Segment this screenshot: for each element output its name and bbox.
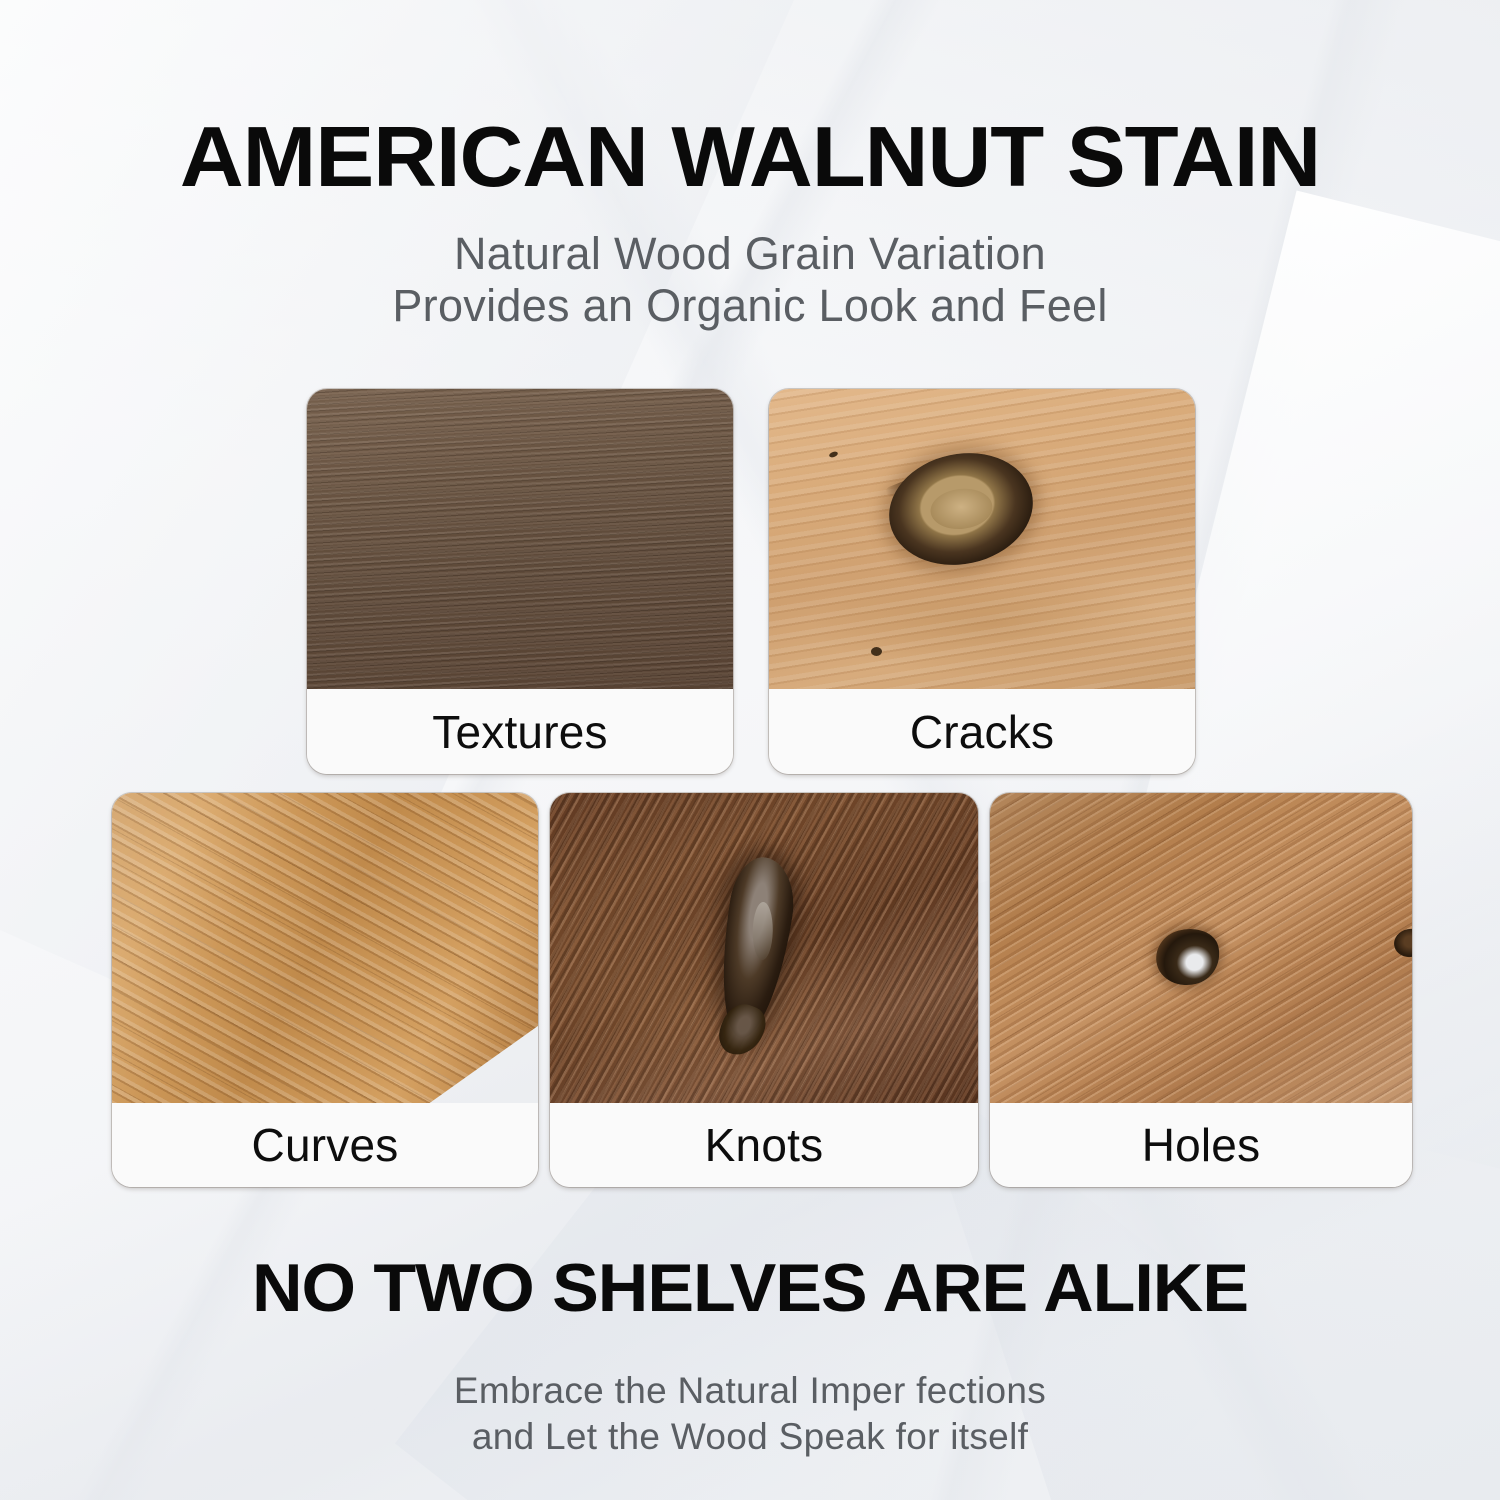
footer-subtitle-line-2: and Let the Wood Speak for itself xyxy=(0,1414,1500,1460)
card-label-textures: Textures xyxy=(432,705,607,759)
card-label-bar: Textures xyxy=(307,689,733,774)
shelf-edge-plank xyxy=(112,793,538,1103)
feature-card-holes[interactable]: Holes xyxy=(990,793,1412,1187)
wood-photo-cracks xyxy=(769,389,1195,689)
feature-card-textures[interactable]: Textures xyxy=(307,389,733,774)
footer-title: NO TWO SHELVES ARE ALIKE xyxy=(0,1250,1500,1326)
card-label-holes: Holes xyxy=(1142,1118,1261,1172)
feature-card-cracks[interactable]: Cracks xyxy=(769,389,1195,774)
wood-photo-curves xyxy=(112,793,538,1103)
card-label-knots: Knots xyxy=(705,1118,824,1172)
wood-photo-textures xyxy=(307,389,733,689)
card-label-bar: Knots xyxy=(550,1103,978,1187)
card-label-bar: Holes xyxy=(990,1103,1412,1187)
footer-subtitle-line-1: Embrace the Natural Imper fections xyxy=(0,1368,1500,1414)
header-subtitle-line-2: Provides an Organic Look and Feel xyxy=(0,280,1500,332)
wood-grain-texture xyxy=(307,389,733,689)
header-subtitle-line-1: Natural Wood Grain Variation xyxy=(0,228,1500,280)
card-label-curves: Curves xyxy=(252,1118,399,1172)
header-subtitle: Natural Wood Grain Variation Provides an… xyxy=(0,228,1500,332)
feature-card-knots[interactable]: Knots xyxy=(550,793,978,1187)
wood-photo-holes xyxy=(990,793,1412,1103)
footer-subtitle: Embrace the Natural Imper fections and L… xyxy=(0,1368,1500,1460)
feature-card-curves[interactable]: Curves xyxy=(112,793,538,1187)
infographic-poster: AMERICAN WALNUT STAIN Natural Wood Grain… xyxy=(0,0,1500,1500)
card-label-cracks: Cracks xyxy=(910,705,1054,759)
wood-photo-knots xyxy=(550,793,978,1103)
page-title: AMERICAN WALNUT STAIN xyxy=(0,112,1500,204)
card-label-bar: Curves xyxy=(112,1103,538,1187)
card-label-bar: Cracks xyxy=(769,689,1195,774)
